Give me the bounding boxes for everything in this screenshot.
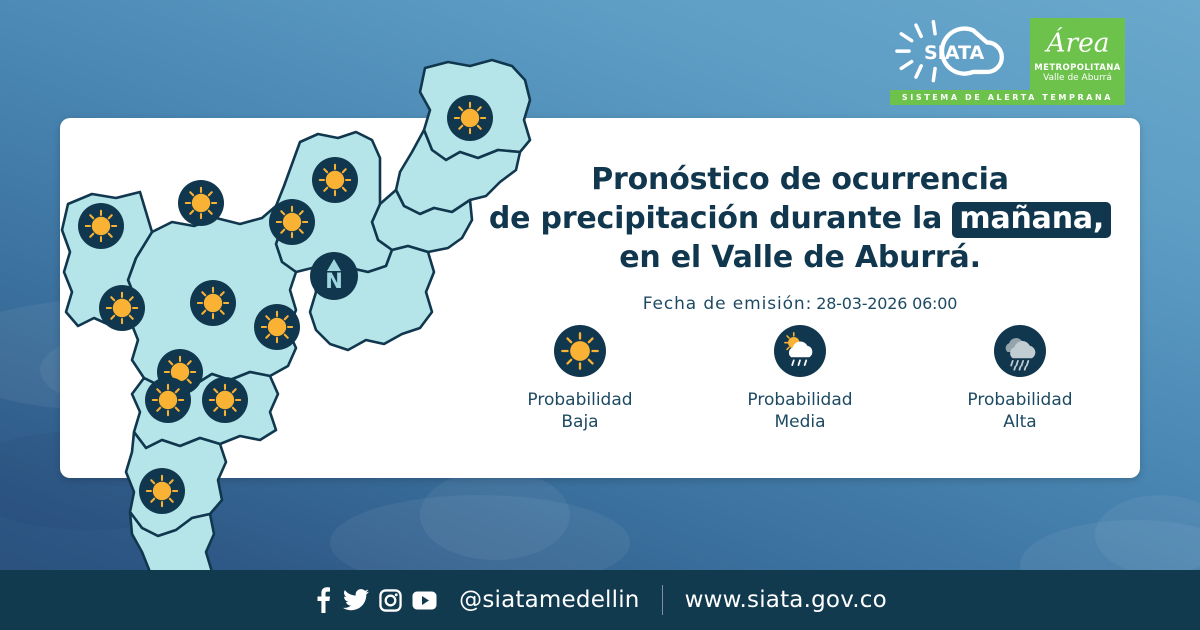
youtube-icon[interactable] bbox=[412, 591, 437, 610]
social-icon-group bbox=[313, 587, 437, 613]
page-title: Pronóstico de ocurrencia de precipitació… bbox=[470, 160, 1130, 277]
area-script-text: Área bbox=[1043, 27, 1109, 59]
title-line-1: Pronóstico de ocurrencia bbox=[470, 160, 1130, 199]
twitter-icon[interactable] bbox=[343, 589, 369, 611]
legend-label-line1: Probabilidad bbox=[925, 389, 1115, 411]
siata-wordmark: SIATA bbox=[924, 42, 985, 64]
cloud-heavy-rain-icon bbox=[994, 325, 1046, 377]
area-logo-line2: Valle de Aburrá bbox=[1043, 73, 1112, 83]
title-line-2: de precipitación durante la mañana, bbox=[470, 199, 1130, 238]
legend-label-line1: Probabilidad bbox=[705, 389, 895, 411]
title-highlight-manana: mañana, bbox=[952, 202, 1111, 238]
probability-legend: Probabilidad Baja Probabilidad Media bbox=[470, 325, 1130, 433]
issue-date-value: 28-03-2026 06:00 bbox=[816, 294, 957, 313]
footer-divider bbox=[662, 585, 663, 615]
issue-date: Fecha de emisión:28-03-2026 06:00 bbox=[470, 294, 1130, 314]
area-script-mark: Área bbox=[1038, 20, 1118, 64]
legend-label-baja: Probabilidad Baja bbox=[485, 389, 675, 433]
tagline-bar: SISTEMA DE ALERTA TEMPRANA bbox=[890, 90, 1125, 105]
footer-bar: @siatamedellin www.siata.gov.co bbox=[0, 570, 1200, 630]
legend-label-line2: Media bbox=[705, 411, 895, 433]
decorative-cloud bbox=[420, 470, 570, 560]
sun-icon bbox=[554, 325, 606, 377]
legend-item-media: Probabilidad Media bbox=[705, 325, 895, 433]
website-url[interactable]: www.siata.gov.co bbox=[685, 587, 887, 613]
issue-date-label: Fecha de emisión: bbox=[643, 294, 812, 314]
legend-label-line2: Alta bbox=[925, 411, 1115, 433]
facebook-icon[interactable] bbox=[313, 587, 333, 613]
legend-label-media: Probabilidad Media bbox=[705, 389, 895, 433]
area-logo-line1: METROPOLITANA bbox=[1034, 64, 1120, 73]
title-line-2-text: de precipitación durante la bbox=[489, 201, 942, 236]
legend-label-line2: Baja bbox=[485, 411, 675, 433]
instagram-icon[interactable] bbox=[379, 589, 402, 612]
logo-group: SIATA Área METROPOLITANA Valle de Aburrá bbox=[890, 18, 1125, 90]
legend-label-alta: Probabilidad Alta bbox=[925, 389, 1115, 433]
headline-block: Pronóstico de ocurrencia de precipitació… bbox=[470, 160, 1130, 314]
siata-logo: SIATA bbox=[890, 18, 1020, 86]
legend-item-alta: Probabilidad Alta bbox=[925, 325, 1115, 433]
tagline-text: SISTEMA DE ALERTA TEMPRANA bbox=[902, 93, 1113, 102]
area-metropolitana-logo: Área METROPOLITANA Valle de Aburrá bbox=[1030, 18, 1125, 90]
legend-item-baja: Probabilidad Baja bbox=[485, 325, 675, 433]
title-line-3: en el Valle de Aburrá. bbox=[470, 238, 1130, 277]
social-handle[interactable]: @siatamedellin bbox=[459, 587, 639, 613]
sun-cloud-rain-icon bbox=[774, 325, 826, 377]
legend-label-line1: Probabilidad bbox=[485, 389, 675, 411]
